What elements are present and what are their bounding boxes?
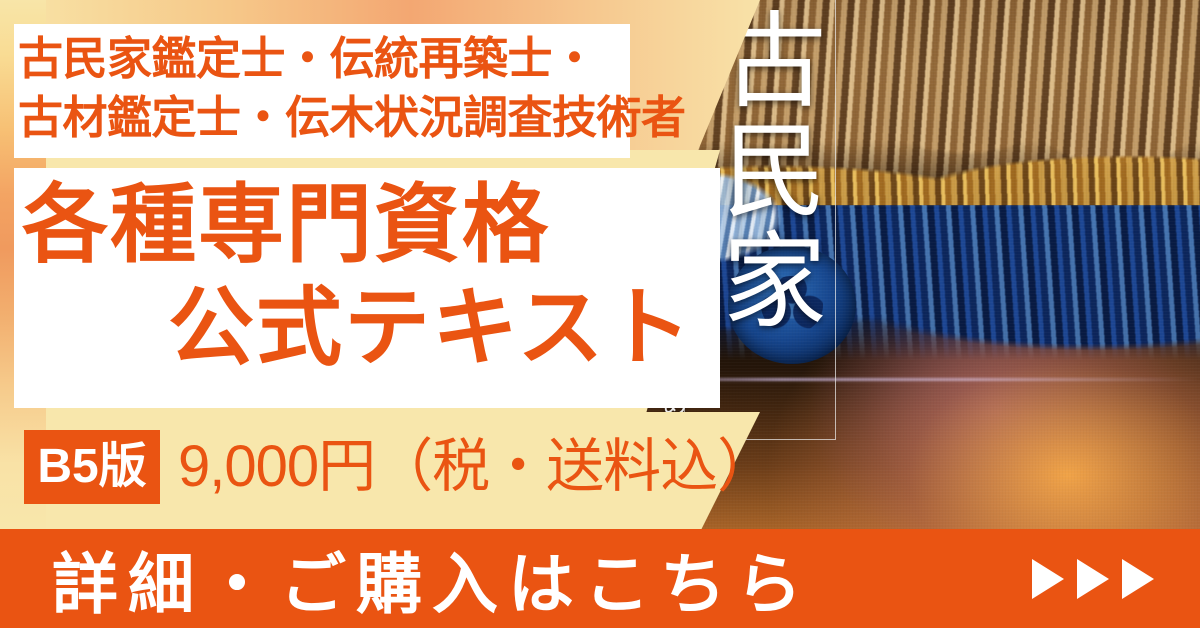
cta-label[interactable]: 詳細・ご購入はこちら bbox=[52, 529, 812, 628]
promo-banner: 古民家 伝統構法、古民家活用のための調査と再生の 古民家鑑定士・伝統再築士・ 古… bbox=[0, 0, 1200, 628]
heading-line-1: 古民家鑑定士・伝統再築士・ bbox=[18, 30, 718, 89]
cta-arrow-group bbox=[1032, 529, 1154, 628]
chevron-right-icon bbox=[1077, 559, 1109, 599]
format-badge-b5: B5版 bbox=[24, 430, 160, 504]
main-title-line-2: 公式テキスト bbox=[168, 285, 693, 371]
heading-line-2: 古材鑑定士・伝木状況調査技術者 bbox=[18, 89, 718, 148]
cta-bar[interactable]: 詳細・ご購入はこちら bbox=[0, 529, 1200, 628]
qualifications-heading: 古民家鑑定士・伝統再築士・ 古材鑑定士・伝木状況調査技術者 bbox=[18, 30, 718, 147]
chevron-right-icon bbox=[1032, 559, 1064, 599]
main-title-line-1: 各種専門資格 bbox=[22, 182, 550, 268]
chevron-right-icon bbox=[1122, 559, 1154, 599]
price-text: 9,000円（税・送料込） bbox=[178, 432, 774, 502]
